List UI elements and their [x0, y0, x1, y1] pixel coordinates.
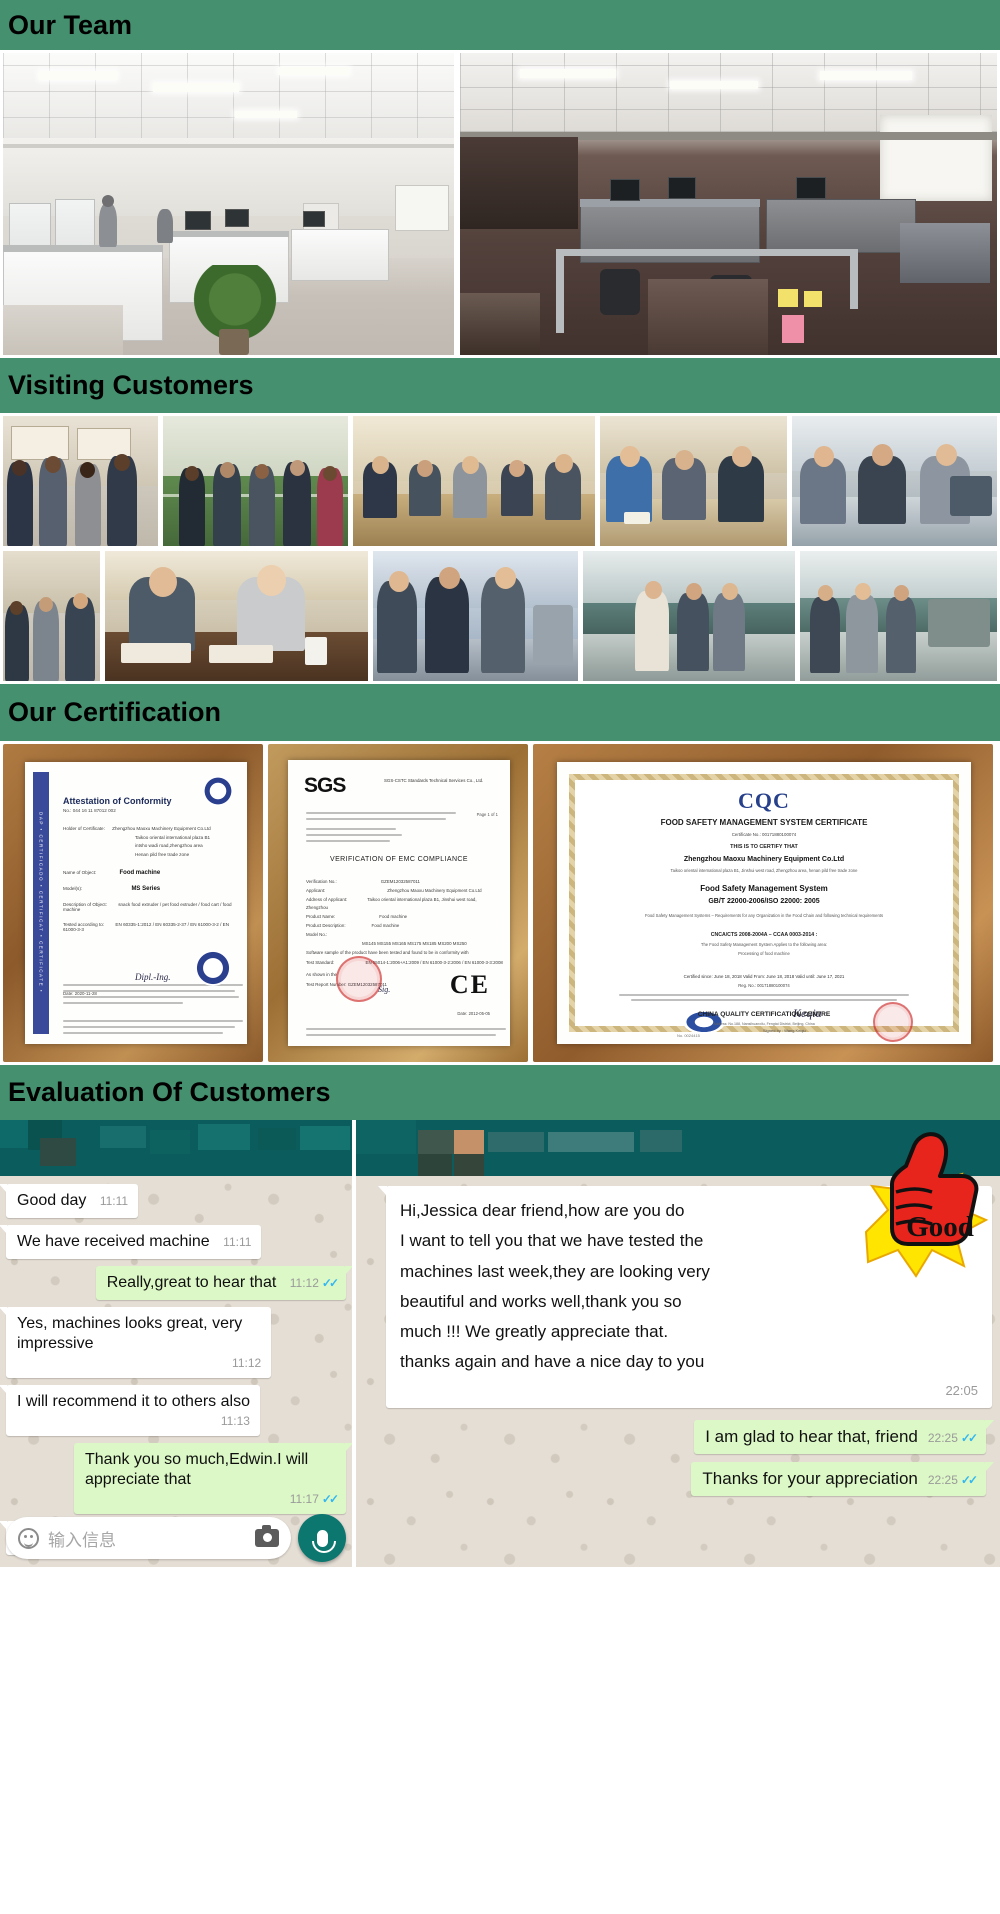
- camera-icon[interactable]: [255, 1529, 279, 1547]
- document: [209, 645, 273, 663]
- message-time: 11:12: [232, 1356, 261, 1371]
- certificate-paper-cqc: CQC FOOD SAFETY MANAGEMENT SYSTEM CERTIF…: [557, 762, 971, 1044]
- cert-row-value: Food machine: [119, 870, 160, 876]
- person-head: [257, 565, 286, 596]
- ceiling-light: [670, 81, 758, 89]
- text-line: [63, 1002, 183, 1004]
- visit-photo-2: [163, 416, 348, 546]
- thumbs-up-good-graphic: Good: [836, 1124, 996, 1284]
- person: [481, 577, 525, 673]
- plant-pot: [219, 329, 249, 355]
- smiley-icon[interactable]: [18, 1528, 39, 1549]
- message-list-left: Good day 11:11 We have received machine …: [0, 1176, 352, 1555]
- good-label: Good: [906, 1211, 974, 1243]
- section-header-evaluation: Evaluation Of Customers: [0, 1065, 1000, 1120]
- certificate-date: Date: 2020-11-28: [63, 991, 97, 996]
- message-text: I am glad to hear that, friend: [705, 1427, 918, 1447]
- read-receipt-icon: ✓✓: [322, 1276, 336, 1291]
- person-head: [39, 597, 53, 612]
- topbar-pixel: [488, 1132, 544, 1152]
- certificate-paper-sgs: SGS SGS-CSTC Standards Technical Service…: [288, 760, 510, 1046]
- equipment: [928, 599, 990, 647]
- section-title-our-certification: Our Certification: [8, 699, 221, 726]
- message-meta: 11:11: [223, 1235, 251, 1250]
- section-header-visiting-customers: Visiting Customers: [0, 358, 1000, 413]
- certification-gallery: DAP • CERTIFICADO • CERTIFICAT • CERTIFI…: [0, 741, 1000, 1065]
- cqc-footer: CHINA QUALITY CERTIFICATION CENTRE: [557, 1011, 971, 1018]
- text-line: [306, 840, 390, 842]
- text-line: [63, 1020, 243, 1022]
- cert-row-value: Food machine: [379, 914, 407, 919]
- message-time: 11:17: [290, 1492, 319, 1507]
- person-head: [73, 593, 88, 609]
- sgs-company: SGS-CSTC Standards Technical Services Co…: [384, 778, 514, 783]
- person-head: [220, 462, 235, 478]
- text-line: [63, 996, 239, 998]
- certificate-frame-sgs[interactable]: SGS SGS-CSTC Standards Technical Service…: [268, 744, 528, 1062]
- message-text: Good day: [17, 1192, 86, 1209]
- cert-row-value: Zhengzhou Maoxu Machinery Equipment Co.L…: [112, 826, 211, 831]
- topbar-pixel: [418, 1130, 454, 1154]
- message-line: thanks again and have a nice day to you: [400, 1347, 978, 1377]
- person-head: [439, 567, 460, 589]
- product-detail-page: Our Team: [0, 0, 1000, 1567]
- side-desk: [900, 223, 990, 283]
- microphone-button[interactable]: [298, 1514, 346, 1562]
- cqc-certificate-no: Certificate No.: 00171880100074: [557, 832, 971, 837]
- topbar-pixel: [258, 1128, 296, 1150]
- person-head: [872, 444, 893, 466]
- whatsapp-chat-left: Good day 11:11 We have received machine …: [0, 1120, 352, 1567]
- visit-photo-1: [3, 416, 158, 546]
- ceiling-light: [39, 71, 117, 80]
- cert-row-value: GZEM12032587011: [381, 879, 420, 884]
- cert-row-label: Model(s):: [63, 886, 82, 891]
- chat-bubble-incoming: Yes, machines looks great, very impressi…: [6, 1307, 271, 1378]
- certificate-paper-tuv: DAP • CERTIFICADO • CERTIFICAT • CERTIFI…: [25, 762, 247, 1044]
- microphone-icon: [317, 1530, 328, 1547]
- foreground-post: [460, 293, 540, 355]
- cqc-holder: Zhengzhou Maoxu Machinery Equipment Co.L…: [557, 856, 971, 863]
- cubicle-partition: [291, 229, 389, 281]
- ceiling-light: [520, 69, 616, 78]
- visiting-row-2: [3, 551, 997, 681]
- cert-row-label: Applicant:: [306, 888, 325, 893]
- text-line: [306, 1034, 496, 1036]
- foreground-counter: [3, 305, 123, 355]
- cert-row-value: Zhengzhou Maoxu Machinery Equipment Co.L…: [387, 888, 481, 893]
- foreground-cabinet: [648, 279, 768, 355]
- topbar-avatar-pixel: [454, 1130, 484, 1154]
- person: [800, 458, 846, 524]
- cert-row-label: Name of Object:: [63, 870, 96, 875]
- text-line: [306, 1028, 506, 1030]
- sticky-note: [804, 291, 822, 307]
- outgoing-replies-right: I am glad to hear that, friend 22:25 ✓✓ …: [356, 1408, 1000, 1496]
- message-text: We have received machine: [17, 1233, 210, 1250]
- cert-row-value: intsho wadi road,zhengzhou area: [135, 842, 237, 851]
- cert-row-label: Address of Applicant:: [306, 897, 347, 902]
- message-meta: 11:17 ✓✓: [85, 1492, 336, 1507]
- person: [635, 591, 669, 671]
- whatsapp-topbar-left: [0, 1120, 352, 1176]
- topbar-pixel: [356, 1120, 416, 1154]
- hand-rail-post: [850, 249, 858, 309]
- pink-folder: [782, 315, 804, 343]
- message-line: much !!! We greatly appreciate that.: [400, 1317, 978, 1347]
- visiting-customers-gallery: [0, 413, 1000, 684]
- topbar-pixel: [548, 1132, 634, 1152]
- cert-row-label: Product Name:: [306, 914, 335, 919]
- hand-rail-post: [556, 249, 564, 333]
- visit-photo-7: [105, 551, 368, 681]
- person-head: [936, 444, 957, 466]
- topbar-pixel: [198, 1124, 250, 1150]
- message-time: 22:25: [928, 1473, 958, 1487]
- message-time: 11:12: [290, 1276, 319, 1291]
- person-head: [290, 460, 305, 476]
- desk-top: [580, 199, 760, 207]
- visit-photo-6: [3, 551, 100, 681]
- person-head: [12, 460, 27, 476]
- cert-statement: Software sample of the product have been…: [306, 950, 469, 955]
- message-meta: 22:25 ✓✓: [928, 1431, 975, 1445]
- person: [65, 597, 95, 681]
- visit-photo-9: [583, 551, 794, 681]
- cqc-serial: No. 0024415: [677, 1033, 700, 1038]
- person: [713, 593, 745, 671]
- sgs-title: VERIFICATION OF EMC COMPLIANCE: [288, 856, 510, 863]
- cert-row-value: MS Series: [131, 886, 160, 892]
- monitor: [303, 211, 325, 227]
- topbar-pixel: [454, 1154, 484, 1176]
- cert-row-label: Model No.:: [306, 932, 327, 937]
- person-head: [323, 466, 337, 481]
- cqc-validity: Certified since: June 18, 2018 Valid Fro…: [557, 974, 971, 979]
- visit-photo-8: [373, 551, 578, 681]
- message-input-field[interactable]: 输入信息: [6, 1517, 291, 1559]
- topbar-pixel: [40, 1138, 76, 1166]
- cup: [305, 637, 327, 665]
- read-receipt-icon: ✓✓: [961, 1473, 975, 1487]
- cqc-footer-sub: Address: No.188, Nansihuanxilu, Fengtai …: [557, 1022, 971, 1026]
- person-head: [114, 454, 130, 471]
- document: [121, 643, 191, 663]
- person-head: [10, 601, 23, 615]
- text-line: [63, 1032, 223, 1034]
- text-line: [63, 1026, 235, 1028]
- cqc-address: Taikoo oriental international plaza B1, …: [609, 868, 919, 873]
- cert-row-label: Holder of Certificate:: [63, 826, 105, 831]
- visit-photo-4: [600, 416, 786, 546]
- chat-bubble-outgoing: Thanks for your appreciation 22:25 ✓✓: [691, 1462, 986, 1496]
- message-text: Really,great to hear that: [107, 1274, 277, 1291]
- section-title-visiting-customers: Visiting Customers: [8, 372, 254, 399]
- topbar-pixel: [0, 1120, 28, 1148]
- cert-row-value: EN 55014-1:2006+A1:2009 / EN 61000-3-2:2…: [366, 960, 503, 965]
- person-head: [185, 466, 199, 481]
- cqc-system: Food Safety Management System: [557, 884, 971, 893]
- person: [5, 605, 29, 681]
- monitor: [796, 177, 826, 199]
- visit-photo-5: [792, 416, 997, 546]
- topbar-pixel: [150, 1130, 190, 1154]
- our-team-photo-row: [0, 50, 1000, 358]
- message-time: 11:11: [100, 1194, 128, 1209]
- section-header-our-certification: Our Certification: [0, 684, 1000, 741]
- ceiling-light: [279, 67, 349, 75]
- message-meta: 11:11: [100, 1194, 128, 1209]
- monitor: [225, 209, 249, 227]
- cqc-extra-3: Processing of food machine: [557, 951, 971, 956]
- sgs-logo: SGS: [304, 774, 345, 798]
- hand-rail: [556, 249, 856, 256]
- person-head: [495, 567, 516, 589]
- chat-bubble-outgoing: Thank you so much,Edwin.I will appreciat…: [74, 1443, 346, 1514]
- read-receipt-icon: ✓✓: [961, 1431, 975, 1445]
- topbar-pixel: [100, 1126, 146, 1148]
- person-head: [102, 195, 114, 207]
- ceiling-light: [235, 111, 297, 118]
- message-meta: 22:25 ✓✓: [928, 1473, 975, 1487]
- team-photo-office-dark: [460, 53, 997, 355]
- monitor: [185, 211, 211, 230]
- cert-row-label: Verification No.:: [306, 879, 337, 884]
- desk: [766, 199, 916, 253]
- visit-photo-10: [800, 551, 997, 681]
- window: [880, 115, 992, 201]
- person-head: [80, 462, 95, 478]
- text-line: [306, 828, 396, 830]
- person: [99, 203, 117, 247]
- topbar-pixel: [418, 1154, 452, 1176]
- wall-frame: [11, 426, 69, 460]
- cert-row-label: Product Description:: [306, 923, 346, 928]
- cqc-certify-line: THIS IS TO CERTIFY THAT: [557, 844, 971, 850]
- ce-mark: CE: [450, 970, 490, 1000]
- message-time: 22:05: [400, 1378, 978, 1402]
- cert-row-value: MS145 MS155 MS165 MS175 MS185 MS200 MS25…: [362, 940, 482, 949]
- cubicle-top-rail: [169, 231, 289, 237]
- read-receipt-icon: ✓✓: [322, 1492, 336, 1507]
- message-meta: 11:12: [17, 1356, 261, 1371]
- text-line: [631, 999, 898, 1001]
- wall-trim: [3, 144, 454, 148]
- section-header-our-team: Our Team: [0, 0, 1000, 50]
- person-head: [855, 583, 871, 600]
- person-head: [814, 446, 834, 467]
- text-line: [306, 834, 402, 836]
- visit-photo-3: [353, 416, 595, 546]
- topbar-pixel: [300, 1126, 350, 1150]
- certificate-frame-tuv[interactable]: DAP • CERTIFICADO • CERTIFICAT • CERTIFI…: [3, 744, 263, 1062]
- chat-bubble-outgoing: I am glad to hear that, friend 22:25 ✓✓: [694, 1420, 986, 1454]
- certificate-date: Date: 2012-05-05: [457, 1011, 490, 1016]
- good-badge: Good: [836, 1124, 996, 1284]
- window: [395, 185, 449, 231]
- visiting-row-1: [3, 416, 997, 546]
- person-head: [389, 571, 409, 592]
- ceiling-light: [153, 83, 239, 92]
- tuv-round-seal-icon: [195, 950, 231, 986]
- person: [810, 597, 840, 673]
- message-line: beautiful and works well,thank you so: [400, 1287, 978, 1317]
- chat-bubble-incoming: I will recommend it to others also 11:13: [6, 1385, 260, 1436]
- chat-bubble-outgoing: Really,great to hear that 11:12 ✓✓: [96, 1266, 346, 1300]
- cqc-extra-1: CNCA/CTS 2008-2004A – CCAA 0003-2014 :: [557, 932, 971, 938]
- red-stamp-icon: [336, 956, 382, 1002]
- sticky-note: [778, 289, 798, 307]
- message-text: Yes, machines looks great, very impressi…: [17, 1315, 242, 1352]
- person: [33, 601, 59, 681]
- text-line: [619, 994, 909, 996]
- monitor: [668, 177, 696, 199]
- person: [157, 209, 173, 243]
- cqc-title: FOOD SAFETY MANAGEMENT SYSTEM CERTIFICAT…: [557, 818, 971, 827]
- cqc-extra-2: The Food Safety Management System Applie…: [557, 942, 971, 947]
- message-text: I will recommend it to others also: [17, 1393, 250, 1410]
- person: [677, 593, 709, 671]
- message-time: 11:11: [223, 1235, 251, 1250]
- cqc-scope-note: Food Safety Management Systems – Require…: [617, 912, 911, 919]
- certificate-sidebar-text: DAP • CERTIFICADO • CERTIFICAT • CERTIFI…: [33, 772, 49, 1034]
- cqc-logo: CQC: [557, 788, 971, 814]
- person-head: [45, 456, 61, 473]
- cert-result-label: As shown in the: [306, 972, 337, 977]
- dark-wall: [460, 137, 578, 229]
- text-line: [306, 818, 446, 820]
- paper: [624, 512, 650, 524]
- section-title-evaluation: Evaluation Of Customers: [8, 1079, 331, 1106]
- person-head: [894, 585, 909, 601]
- text-line: [306, 812, 456, 814]
- person: [846, 595, 878, 673]
- person: [886, 597, 916, 673]
- signature: Dipl.-Ing.: [135, 972, 171, 982]
- message-time: 22:25: [928, 1431, 958, 1445]
- cqc-standard: GB/T 22000-2006/ISO 22000: 2005: [557, 898, 971, 905]
- cert-row-value: Henan pild free trade zone: [135, 851, 237, 860]
- chat-bubble-incoming: Good day 11:11: [6, 1184, 138, 1218]
- whatsapp-input-bar: 输入信息: [0, 1509, 352, 1567]
- person: [425, 577, 469, 673]
- cubicle-top-rail: [3, 245, 163, 252]
- customer-evaluation-screenshots: Good day 11:11 We have received machine …: [0, 1120, 1000, 1567]
- certificate-frame-cqc[interactable]: CQC FOOD SAFETY MANAGEMENT SYSTEM CERTIF…: [533, 744, 993, 1062]
- team-photo-office-light: [3, 53, 454, 355]
- person-head: [255, 464, 269, 479]
- topbar-pixel: [640, 1130, 682, 1152]
- message-time: 11:13: [221, 1414, 250, 1429]
- cert-row-label: Test Standard:: [306, 960, 334, 965]
- message-text: Thanks for your appreciation: [702, 1469, 917, 1489]
- cert-row-value: Taikoo oriental international plaza B1: [135, 834, 237, 843]
- message-text: Thank you so much,Edwin.I will appreciat…: [85, 1451, 308, 1488]
- cqc-reg-no: Reg. No.: 00171880100074: [557, 983, 971, 988]
- message-meta: 11:13: [17, 1414, 250, 1429]
- message-meta: 11:12 ✓✓: [290, 1276, 336, 1291]
- section-title-our-team: Our Team: [8, 12, 132, 39]
- machine: [533, 605, 573, 665]
- person-head: [818, 585, 833, 601]
- ceiling-grid: [3, 53, 454, 144]
- equipment: [950, 476, 992, 516]
- cert-row-value: Food machine: [372, 923, 400, 928]
- person: [858, 456, 906, 524]
- certificate-heading: Attestation of Conformity: [63, 796, 237, 806]
- message-input-placeholder: 输入信息: [48, 1526, 246, 1551]
- office-chair: [600, 269, 640, 315]
- chat-bubble-incoming: We have received machine 11:11: [6, 1225, 261, 1259]
- signature: Sig.: [378, 985, 390, 994]
- person: [377, 581, 417, 673]
- ceiling-light: [820, 71, 912, 80]
- monitor: [610, 179, 640, 201]
- cqc-signed-by: Signed by : Wang Keqiu: [763, 1028, 806, 1033]
- certificate-number: No.: 044 16 11 87012 002: [63, 808, 237, 813]
- whatsapp-chat-right: Good Hi,Jessica dear friend,how are you …: [356, 1120, 1000, 1567]
- page-note: Page 1 of 1: [477, 812, 498, 817]
